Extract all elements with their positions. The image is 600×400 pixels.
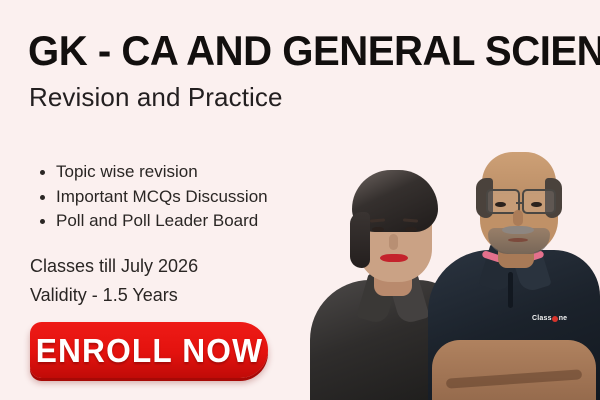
male-nose — [513, 210, 523, 226]
feature-list: Topic wise revision Important MCQs Discu… — [34, 160, 268, 234]
female-hair-side — [350, 212, 370, 268]
female-nose — [389, 234, 398, 250]
logo-text-class: Class — [532, 315, 552, 322]
female-lips — [380, 254, 408, 262]
eyeglasses-bridge — [516, 202, 524, 204]
instructor-photos: Class ne — [300, 0, 600, 400]
classes-duration-text: Classes till July 2026 — [30, 252, 198, 281]
male-eye-right — [531, 202, 542, 207]
validity-text: Validity - 1.5 Years — [30, 281, 198, 310]
banner-subtitle: Revision and Practice — [29, 82, 283, 113]
female-eye-left — [372, 227, 384, 232]
male-mustache — [502, 226, 534, 234]
list-item: Important MCQs Discussion — [56, 185, 268, 210]
logo-text-one: ne — [559, 315, 568, 322]
list-item: Poll and Poll Leader Board — [56, 209, 268, 234]
male-eye-left — [495, 202, 506, 207]
male-shirt-placket — [508, 272, 513, 308]
enroll-now-button[interactable]: ENROLL NOW — [30, 322, 268, 378]
male-mouth — [508, 238, 528, 242]
classone-logo: Class ne — [532, 315, 567, 322]
female-eye-right — [405, 227, 417, 232]
logo-mark-icon — [552, 316, 558, 322]
course-promo-banner: GK - CA AND GENERAL SCIENCE Revision and… — [0, 0, 600, 400]
enroll-now-label: ENROLL NOW — [35, 334, 262, 367]
instructor-male-photo: Class ne — [428, 122, 600, 400]
list-item: Topic wise revision — [56, 160, 268, 185]
course-details: Classes till July 2026 Validity - 1.5 Ye… — [30, 252, 198, 310]
